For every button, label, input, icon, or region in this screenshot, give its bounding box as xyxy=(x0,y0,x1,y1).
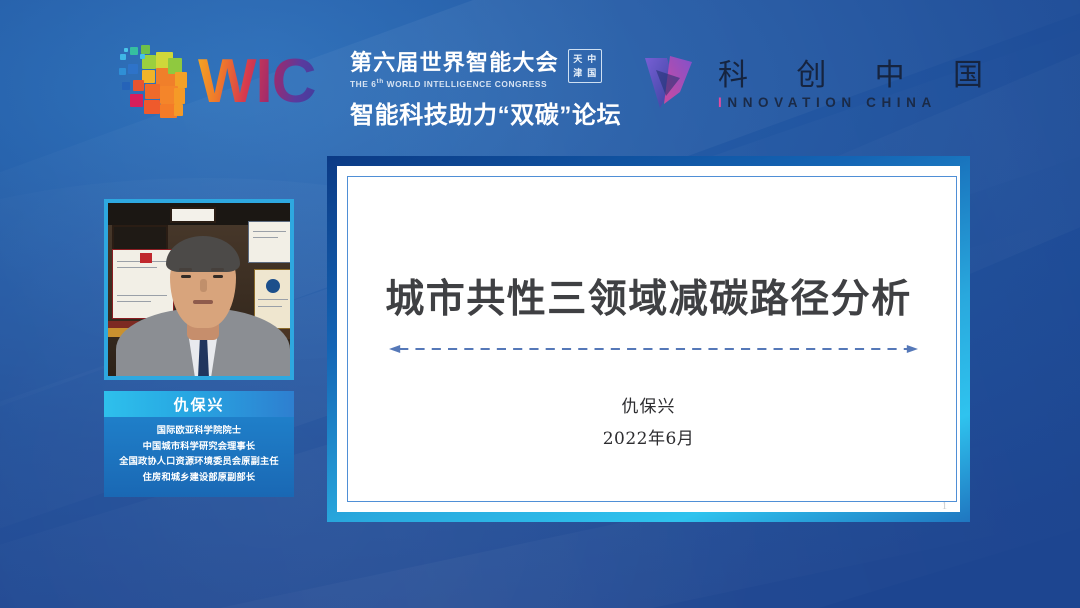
speaker-title-line: 住房和城乡建设部原副部长 xyxy=(107,470,291,486)
conference-en-title: THE 6th WORLD INTELLIGENCE CONGRESS xyxy=(350,78,559,89)
speaker-video-feed[interactable] xyxy=(104,199,294,380)
speaker-title-line: 全国政协人口资源环境委员会原副主任 xyxy=(107,454,291,470)
speaker-title-line: 中国城市科学研究会理事长 xyxy=(107,439,291,455)
innovation-china-en: INNOVATION CHINA xyxy=(718,95,1003,110)
tianjin-china-seal-icon: 天 中 津 国 xyxy=(568,49,602,83)
innovation-china-mark-icon xyxy=(640,52,702,114)
wic-wordmark: WIC xyxy=(198,51,316,113)
speaker-titles: 国际欧亚科学院院士 中国城市科学研究会理事长 全国政协人口资源环境委员会原副主任… xyxy=(104,417,294,497)
conference-title-block: 第六届世界智能大会 THE 6th WORLD INTELLIGENCE CON… xyxy=(350,50,600,130)
speaker-panel: 仇保兴 国际欧亚科学院院士 中国城市科学研究会理事长 全国政协人口资源环境委员会… xyxy=(104,199,294,497)
presentation-slide[interactable]: 城市共性三领域减碳路径分析 仇保兴 2022年6月 1 xyxy=(327,156,970,522)
innovation-china-cn: 科 创 中 国 xyxy=(718,59,1003,93)
header-banner: WIC 第六届世界智能大会 THE 6th WORLD INTELLIGENCE… xyxy=(0,0,1080,150)
forum-subtitle: 智能科技助力“双碳”论坛 xyxy=(350,95,600,130)
video-background xyxy=(108,203,290,376)
double-arrow-dashed-rule xyxy=(389,341,918,351)
slide-page-number: 1 xyxy=(942,501,947,512)
slide-author: 仇保兴 xyxy=(327,392,970,417)
speaker-figure xyxy=(108,199,294,376)
slide-content: 城市共性三领域减碳路径分析 仇保兴 2022年6月 1 xyxy=(327,156,970,522)
conference-cn-title: 第六届世界智能大会 xyxy=(350,50,559,75)
speaker-name: 仇保兴 xyxy=(173,394,224,415)
speaker-nameplate: 仇保兴 xyxy=(104,391,294,417)
innovation-china-logo: 科 创 中 国 INNOVATION CHINA xyxy=(640,52,1003,114)
wic-logo: WIC xyxy=(118,44,316,120)
slide-date: 2022年6月 xyxy=(327,424,970,449)
pixel-head-icon xyxy=(118,44,192,120)
slide-title: 城市共性三领域减碳路径分析 xyxy=(327,268,970,324)
speaker-title-line: 国际欧亚科学院院士 xyxy=(107,423,291,439)
